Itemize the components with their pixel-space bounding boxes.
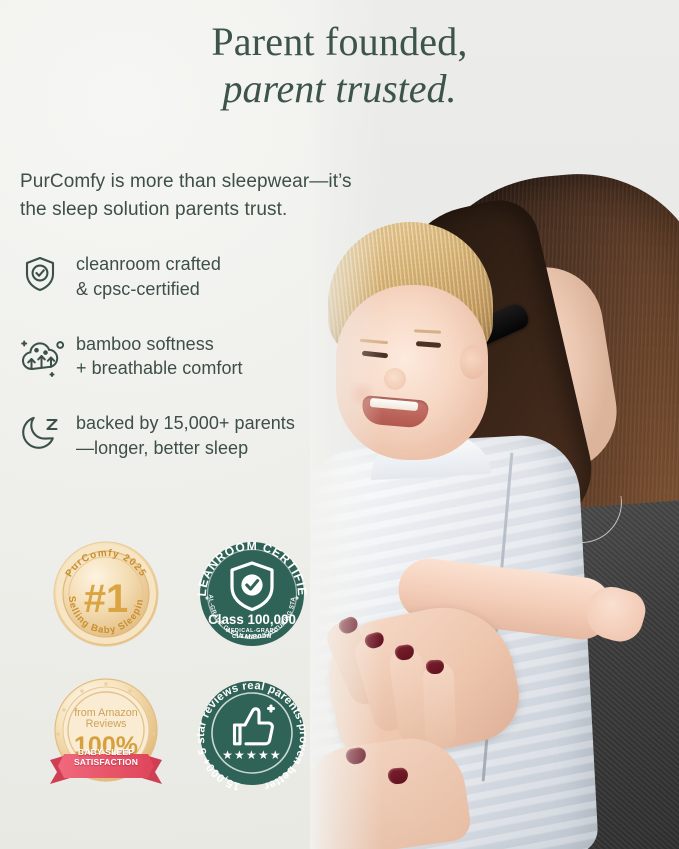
feature-line-2: + breathable comfort <box>76 358 243 378</box>
badge-best-selling-seal: PurComfy 2025 Best-Selling Baby Sleeping… <box>44 534 168 652</box>
child-ear <box>460 345 486 379</box>
badge-row-top: PurComfy 2025 Best-Selling Baby Sleeping… <box>44 534 314 652</box>
headline-line-2: parent trusted. <box>0 67 679 112</box>
breathable-cloud-icon <box>20 332 76 378</box>
feature-text: bamboo softness + breathable comfort <box>76 332 243 382</box>
feature-line-2: & cpsc-certified <box>76 279 200 299</box>
feature-item-cleanroom: cleanroom crafted & cpsc-certified <box>20 252 350 302</box>
headline-line-1: Parent founded, <box>0 20 679 65</box>
lifestyle-photo <box>310 0 679 849</box>
intro-paragraph: PurComfy is more than sleepwear—it’s the… <box>20 168 380 223</box>
feature-line-1: cleanroom crafted <box>76 254 221 274</box>
shield-check-icon <box>20 252 76 294</box>
seal-center-text: #1 <box>84 577 129 621</box>
feature-item-sleep: backed by 15,000+ parents —longer, bette… <box>20 411 350 461</box>
medal-top-line-2: Reviews <box>86 718 127 730</box>
feature-list: cleanroom crafted & cpsc-certified <box>20 252 350 491</box>
child-nose <box>384 368 406 390</box>
cleanroom-sub-line-2: CLEANROOM <box>232 634 272 640</box>
feature-text: cleanroom crafted & cpsc-certified <box>76 252 221 302</box>
feature-line-1: bamboo softness <box>76 334 214 354</box>
moon-sleep-icon <box>20 411 76 453</box>
badge-row-bottom: from Amazon Reviews 100% BABY SLEEP SATI… <box>44 674 314 792</box>
promotional-image: Parent founded, parent trusted. PurComfy… <box>0 0 679 849</box>
feature-line-2: —longer, better sleep <box>76 438 248 458</box>
page-title: Parent founded, parent trusted. <box>0 20 679 112</box>
star-rating: ★★★★★ <box>222 748 282 762</box>
trust-badges: PurComfy 2025 Best-Selling Baby Sleeping… <box>44 534 314 814</box>
mother-finger <box>423 661 457 748</box>
feature-text: backed by 15,000+ parents —longer, bette… <box>76 411 295 461</box>
feature-item-bamboo: bamboo softness + breathable comfort <box>20 332 350 382</box>
feature-line-1: backed by 15,000+ parents <box>76 413 295 433</box>
badge-reviews-proven: 15,000+ 5 star reviews real parents-prov… <box>190 674 314 792</box>
cleanroom-class-text: Class 100,000 <box>208 612 296 627</box>
badge-cleanroom-certified: CLEANROOM CERTIFIED MEDICAL-GRADE CLEAN … <box>190 534 314 652</box>
badge-amazon-satisfaction: from Amazon Reviews 100% BABY SLEEP SATI… <box>44 674 168 792</box>
